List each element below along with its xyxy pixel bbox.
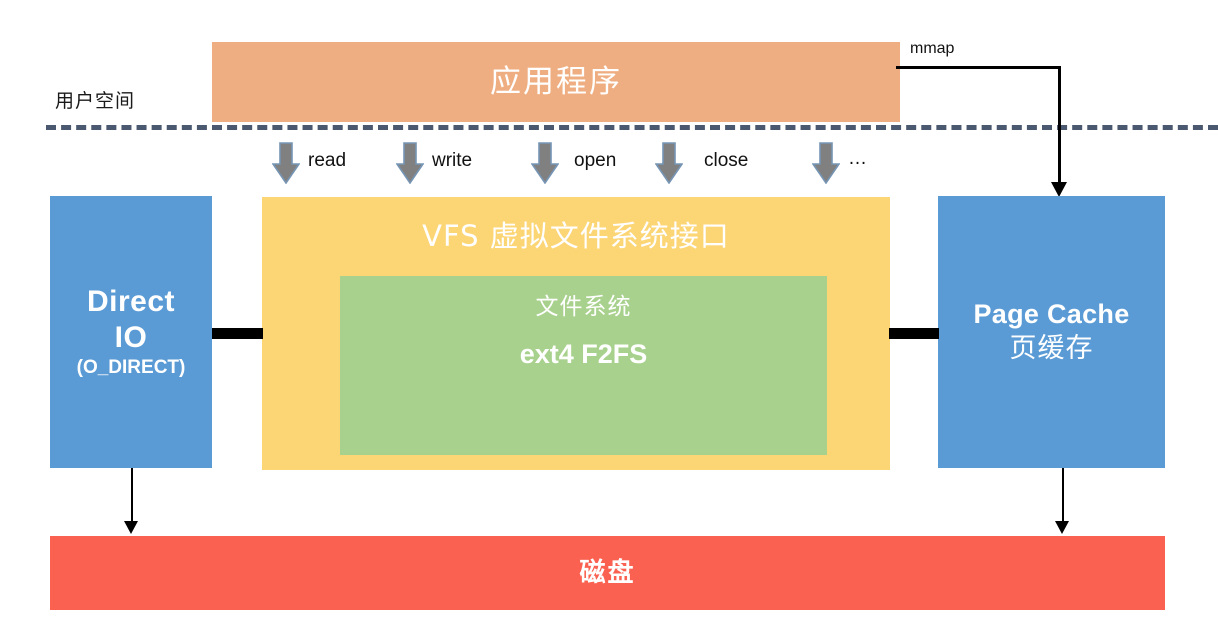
connector-direct-io-to-vfs [212, 328, 263, 339]
down-arrow-icon [655, 142, 683, 184]
filesystem-label-cn: 文件系统 [536, 294, 632, 321]
mmap-connector-horizontal [896, 66, 1061, 69]
direct-io-label-line2: IO [115, 320, 148, 355]
syscall-label-open: open [574, 150, 616, 172]
page-cache-label-en: Page Cache [973, 299, 1129, 331]
direct-io-label-line1: Direct [87, 284, 175, 319]
filesystem-box[interactable]: 文件系统 ext4 F2FS [340, 276, 827, 455]
syscall-label-write: write [432, 150, 472, 172]
down-arrow-icon [531, 142, 559, 184]
down-arrow-icon [396, 142, 424, 184]
page-cache-to-disk-line [1062, 468, 1064, 523]
application-box[interactable]: 应用程序 [212, 42, 900, 122]
vfs-title: VFS 虚拟文件系统接口 [422, 219, 730, 253]
direct-io-to-disk-arrowhead-icon [124, 521, 138, 534]
page-cache-box[interactable]: Page Cache 页缓存 [938, 196, 1165, 468]
userspace-label: 用户空间 [55, 86, 135, 113]
disk-box[interactable]: 磁盘 [50, 536, 1165, 610]
mmap-label: mmap [910, 40, 954, 58]
mmap-connector-vertical [1058, 66, 1061, 186]
page-cache-to-disk-arrowhead-icon [1055, 521, 1069, 534]
application-label: 应用程序 [490, 64, 622, 101]
diagram-canvas: 应用程序 用户空间 mmap read write open close [0, 0, 1218, 626]
filesystem-label-en: ext4 F2FS [520, 339, 648, 371]
page-cache-label-cn: 页缓存 [1010, 333, 1094, 365]
down-arrow-icon [272, 142, 300, 184]
syscall-label-ellipsis: … [848, 148, 867, 170]
syscall-label-read: read [308, 150, 346, 172]
syscall-label-close: close [704, 150, 748, 172]
connector-vfs-to-page-cache [889, 328, 939, 339]
userspace-kernelspace-divider [46, 125, 1218, 130]
mmap-arrowhead-icon [1051, 182, 1067, 197]
direct-io-label-line3: (O_DIRECT) [77, 357, 186, 379]
down-arrow-icon [812, 142, 840, 184]
direct-io-box[interactable]: Direct IO (O_DIRECT) [50, 196, 212, 468]
disk-label: 磁盘 [579, 558, 635, 589]
direct-io-to-disk-line [131, 468, 133, 523]
